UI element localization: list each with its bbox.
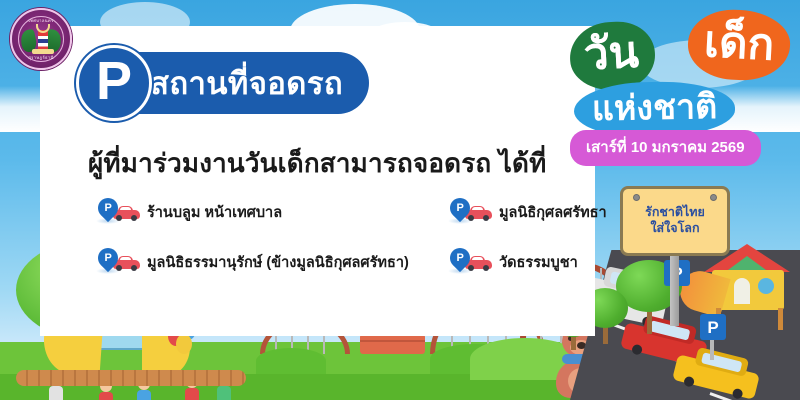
list-item-label: วัดธรรมบูชา — [499, 251, 578, 274]
list-item: P มูลนิธิธรรมานุรักษ์ (ข้างมูลนิธิกุศลศร… — [96, 248, 448, 276]
municipal-seal-icon: เทศบาลนคร สุราษฎร์ธานี — [10, 8, 72, 70]
list-item-label: ร้านบลูม หน้าเทศบาล — [147, 201, 282, 224]
pin-letter: P — [456, 253, 463, 264]
sign-line-1: รักชาติไทย — [645, 205, 705, 221]
bolt-icon — [710, 194, 717, 201]
parking-pin-car-icon: P — [448, 248, 492, 276]
list-item: P ร้านบลูม หน้าเทศบาล — [96, 198, 448, 226]
balloon-icon — [176, 334, 192, 354]
torso-shape — [99, 392, 113, 400]
sign-line-2: ใส่ใจโลก — [650, 221, 699, 237]
parking-pin-car-icon: P — [448, 198, 492, 226]
coaster-platform — [360, 334, 425, 354]
pin-letter: P — [456, 203, 463, 214]
support-leg — [778, 308, 783, 330]
bolt-icon — [633, 194, 640, 201]
pin-letter: P — [104, 253, 111, 264]
parking-p-letter: P — [96, 54, 132, 108]
sign-post — [670, 254, 679, 326]
wheel-shape — [116, 215, 122, 221]
list-item-label: มูลนิธิธรรมานุรักษ์ (ข้างมูลนิธิกุศลศรัท… — [147, 251, 409, 274]
parking-pin-car-icon: P — [96, 248, 140, 276]
torso-shape — [185, 388, 199, 400]
wheel-shape — [131, 265, 137, 271]
seal-text-bottom: สุราษฎร์ธานี — [12, 54, 70, 61]
page-title: สถานที่จอดรถ — [150, 68, 343, 99]
pin-letter: P — [104, 203, 111, 214]
bush-shape — [256, 348, 326, 374]
sign-board: รักชาติไทย ใส่ใจโลก — [620, 186, 730, 256]
torso-shape — [217, 386, 231, 400]
wheel-shape — [483, 215, 489, 221]
parking-pin-car-icon: P — [96, 198, 140, 226]
wheel-shape — [468, 265, 474, 271]
wheel-shape — [483, 265, 489, 271]
road-sign: รักชาติไทย ใส่ใจโลก — [620, 186, 730, 256]
torso-shape — [137, 390, 151, 400]
parking-p-icon: P — [76, 45, 152, 121]
wheel-shape — [468, 215, 474, 221]
wheel-shape — [131, 215, 137, 221]
parking-info-poster: P P เทศบาลนคร สุราษฎร์ธานี สถานที่จอดรถ … — [0, 0, 800, 400]
seal-text-top: เทศบาลนคร — [12, 17, 70, 24]
window-shape — [758, 278, 774, 294]
playground-border — [16, 370, 246, 386]
event-title-block: วัน เด็ก แห่งชาติ เสาร์ที่ 10 มกราคม 256… — [564, 4, 792, 164]
door-shape — [734, 278, 750, 304]
parking-sign-board: P — [700, 314, 726, 340]
subheading-text: ผู้ที่มาร่วมงานวันเด็กสามารถจอดรถ ได้ที่ — [88, 143, 546, 184]
torso-shape — [49, 386, 63, 400]
wheel-shape — [116, 265, 122, 271]
event-date-badge: เสาร์ที่ 10 มกราคม 2569 — [570, 130, 761, 166]
event-title-word-2: เด็ก — [686, 7, 792, 82]
list-item-label: มูลนิธิกุศลศรัทธา — [499, 201, 607, 224]
